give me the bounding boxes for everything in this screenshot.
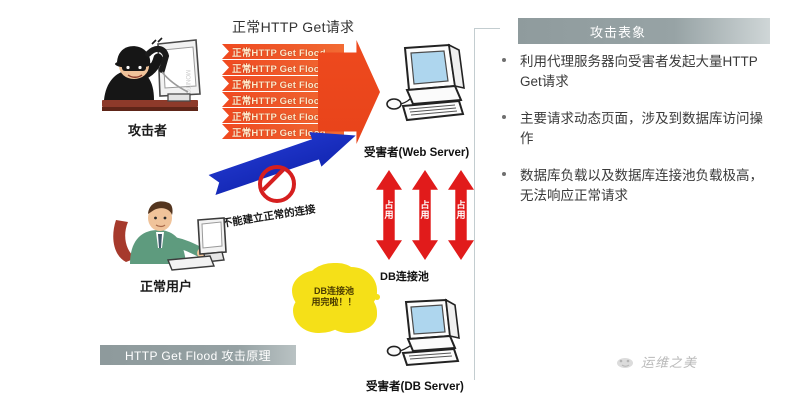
db-connection-pool-label: DB连接池	[380, 268, 429, 284]
vertical-divider	[474, 28, 475, 380]
db-server-illustration	[386, 298, 466, 376]
divider-top-tick	[474, 28, 500, 29]
attack-symptoms-header-text: 攻击表象	[518, 22, 718, 41]
cloud-logo-icon	[616, 355, 634, 369]
pool-occupy-label: 占 用	[448, 200, 474, 220]
attack-symptoms-list: 利用代理服务器向受害者发起大量HTTP Get请求 主要请求动态页面，涉及到数据…	[498, 52, 776, 223]
pool-occupy-line2: 用	[456, 210, 465, 220]
web-server-label: 受害者(Web Server)	[364, 144, 469, 160]
prohibition-icon	[258, 165, 296, 203]
flood-arrow-label: 正常HTTP Get Flood	[232, 109, 326, 123]
attacker-label: 攻击者	[128, 120, 167, 139]
attack-principle-banner-text: HTTP Get Flood 攻击原理	[100, 347, 296, 364]
flood-arrow-label: 正常HTTP Get Flood	[232, 93, 326, 107]
db-server-label: 受害者(DB Server)	[366, 378, 464, 394]
pool-occupy-label: 占 用	[412, 200, 438, 220]
attacker-icon: MONITOR	[96, 26, 208, 118]
computer-icon	[385, 42, 471, 138]
pool-occupy-line1: 占	[420, 200, 429, 210]
normal-http-get-title: 正常HTTP Get请求	[232, 17, 354, 37]
list-item-text: 利用代理服务器向受害者发起大量HTTP Get请求	[520, 54, 758, 89]
normal-user-label: 正常用户	[140, 276, 192, 295]
bullet-icon	[502, 58, 506, 62]
pool-occupy-label: 占 用	[376, 200, 402, 220]
bullet-icon	[502, 115, 506, 119]
watermark-text: 运维之美	[641, 352, 697, 371]
bubble-tail-small	[374, 294, 380, 300]
flood-arrow-label: 正常HTTP Get Flood	[232, 77, 326, 91]
flood-arrow-label: 正常HTTP Get Flood	[232, 61, 326, 75]
db-connection-pool-arrows: 占 用 占 用 占 用	[374, 170, 478, 268]
bubble-line-1: DB连接池	[314, 286, 354, 296]
list-item-text: 主要请求动态页面，涉及到数据库访问操作	[520, 111, 763, 146]
pool-occupy-line1: 占	[384, 200, 393, 210]
bubble-line-2: 用完啦！！	[311, 297, 356, 307]
list-item-text: 数据库负载以及数据库连接池负载极高，无法响应正常请求	[520, 168, 763, 203]
pool-occupy-line1: 占	[456, 200, 465, 210]
computer-icon	[386, 298, 466, 376]
flood-arrow-label: 正常HTTP Get Flood	[232, 45, 326, 59]
normal-user-illustration	[112, 186, 230, 272]
web-server-illustration	[385, 42, 471, 138]
list-item: 数据库负载以及数据库连接池负载极高，无法响应正常请求	[498, 166, 776, 206]
watermark: 运维之美	[616, 352, 697, 371]
list-item: 利用代理服务器向受害者发起大量HTTP Get请求	[498, 52, 776, 92]
pool-occupy-line2: 用	[384, 210, 393, 220]
diagram-canvas: 正常HTTP Get请求 MONITOR	[0, 0, 788, 400]
list-item: 主要请求动态页面，涉及到数据库访问操作	[498, 109, 776, 149]
attacker-illustration: MONITOR	[96, 26, 208, 118]
pool-occupy-line2: 用	[420, 210, 429, 220]
pool-exhausted-text: DB连接池 用完啦！！	[300, 286, 368, 308]
bullet-icon	[502, 172, 506, 176]
user-at-desk-icon	[112, 186, 230, 272]
